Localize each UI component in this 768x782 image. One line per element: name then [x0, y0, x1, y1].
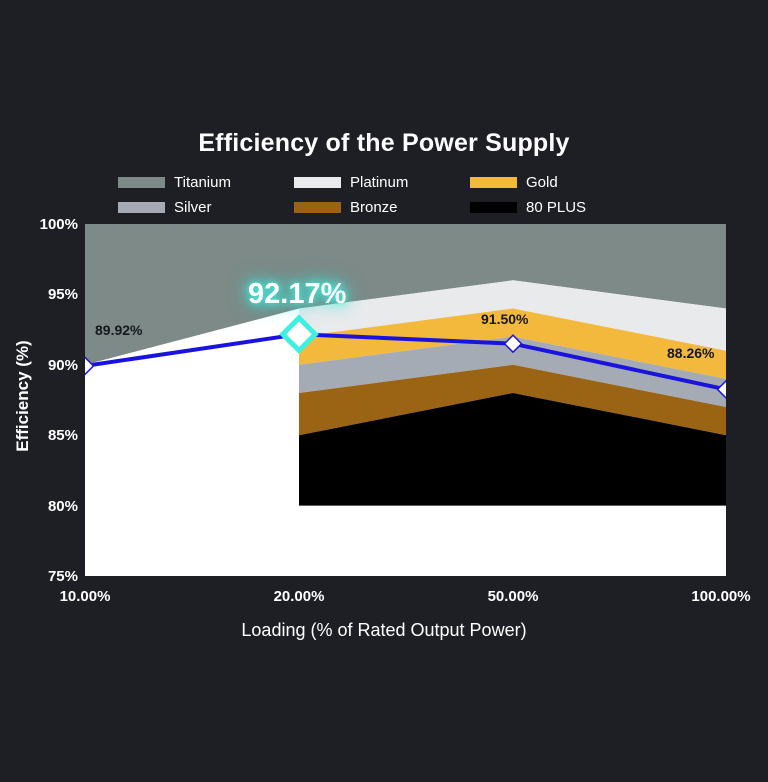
legend-label-80plus: 80 PLUS: [526, 199, 586, 216]
chart-page: Efficiency of the Power Supply Titanium …: [0, 0, 768, 782]
y-axis-label: Efficiency (%): [13, 321, 33, 471]
data-label-0: 89.92%: [95, 322, 142, 338]
legend-swatch-gold: [470, 177, 517, 188]
legend-label-titanium: Titanium: [174, 174, 231, 191]
x-axis-label: Loading (% of Rated Output Power): [0, 620, 768, 641]
legend-swatch-80plus: [470, 202, 517, 213]
legend-label-gold: Gold: [526, 174, 558, 191]
x-tick-10: 10.00%: [25, 588, 145, 605]
legend-label-bronze: Bronze: [350, 199, 398, 216]
data-label-3: 88.26%: [667, 345, 714, 361]
legend-swatch-platinum: [294, 177, 341, 188]
plot-area: [85, 224, 726, 576]
legend-item-bronze[interactable]: Bronze: [294, 195, 470, 220]
chart-title: Efficiency of the Power Supply: [0, 129, 768, 158]
legend-swatch-titanium: [118, 177, 165, 188]
y-tick-95: 95%: [8, 286, 78, 303]
legend-swatch-bronze: [294, 202, 341, 213]
legend-item-platinum[interactable]: Platinum: [294, 170, 470, 195]
x-tick-50: 50.00%: [453, 588, 573, 605]
y-tick-80: 80%: [8, 498, 78, 515]
legend-item-titanium[interactable]: Titanium: [118, 170, 294, 195]
y-tick-75: 75%: [8, 568, 78, 585]
y-tick-100: 100%: [8, 216, 78, 233]
area-chart-svg: [85, 224, 726, 576]
legend-label-platinum: Platinum: [350, 174, 408, 191]
legend-item-80plus[interactable]: 80 PLUS: [470, 195, 646, 220]
legend-label-silver: Silver: [174, 199, 212, 216]
x-tick-20: 20.00%: [239, 588, 359, 605]
y-axis: 100% 95% 90% 85% 80% 75%: [0, 0, 78, 782]
legend-item-gold[interactable]: Gold: [470, 170, 646, 195]
legend-item-silver[interactable]: Silver: [118, 195, 294, 220]
data-label-1-highlighted: 92.17%: [248, 278, 346, 311]
x-tick-100: 100.00%: [661, 588, 768, 605]
legend-swatch-silver: [118, 202, 165, 213]
data-label-2: 91.50%: [481, 311, 528, 327]
